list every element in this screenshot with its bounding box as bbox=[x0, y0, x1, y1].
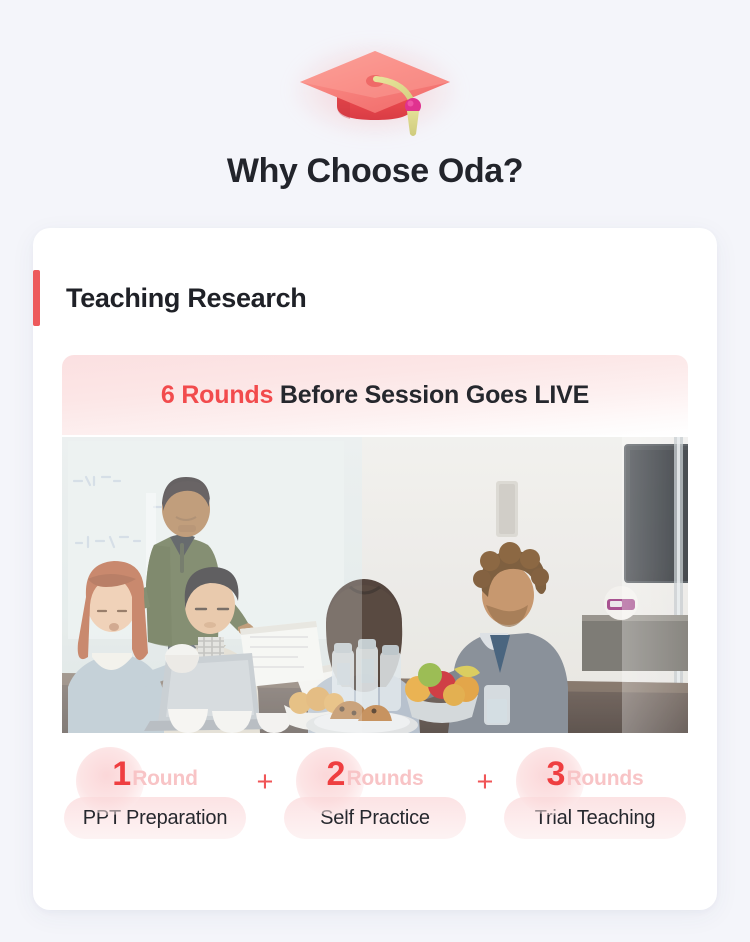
plus-separator-1: + bbox=[248, 759, 282, 805]
page-title: Why Choose Oda? bbox=[227, 152, 523, 191]
round-item-1: 1 Round PPT Preparation bbox=[62, 757, 248, 839]
round-number-1: 1 bbox=[112, 757, 130, 791]
classroom-photo bbox=[62, 437, 688, 733]
round-number-2: 2 bbox=[327, 757, 345, 791]
round-unit-3: Rounds bbox=[566, 767, 643, 791]
rounds-banner: 6 Rounds Before Session Goes LIVE bbox=[62, 355, 688, 435]
plus-separator-2: + bbox=[468, 759, 502, 805]
accent-bar bbox=[33, 270, 40, 326]
round-number-3: 3 bbox=[547, 757, 565, 791]
graduation-cap-icon bbox=[292, 38, 458, 138]
hero-section: Why Choose Oda? bbox=[0, 0, 750, 191]
graduation-cap-illustration bbox=[275, 34, 475, 142]
round-heading-1: 1 Round bbox=[62, 757, 248, 803]
banner-rest: Before Session Goes LIVE bbox=[273, 381, 589, 409]
round-unit-1: Round bbox=[132, 767, 197, 791]
round-item-2: 2 Rounds Self Practice bbox=[282, 757, 468, 839]
classroom-photo-image bbox=[62, 437, 688, 733]
section-header: Teaching Research bbox=[33, 270, 717, 326]
round-heading-2: 2 Rounds bbox=[282, 757, 468, 803]
rounds-row: 1 Round PPT Preparation + 2 Rounds Self … bbox=[33, 757, 717, 839]
banner-text: 6 Rounds Before Session Goes LIVE bbox=[161, 381, 589, 410]
section-title: Teaching Research bbox=[40, 270, 307, 326]
round-heading-3: 3 Rounds bbox=[502, 757, 688, 803]
round-item-3: 3 Rounds Trial Teaching bbox=[502, 757, 688, 839]
banner-highlight: 6 Rounds bbox=[161, 381, 273, 409]
teaching-research-card: Teaching Research 6 Rounds Before Sessio… bbox=[33, 228, 717, 910]
round-unit-2: Rounds bbox=[346, 767, 423, 791]
